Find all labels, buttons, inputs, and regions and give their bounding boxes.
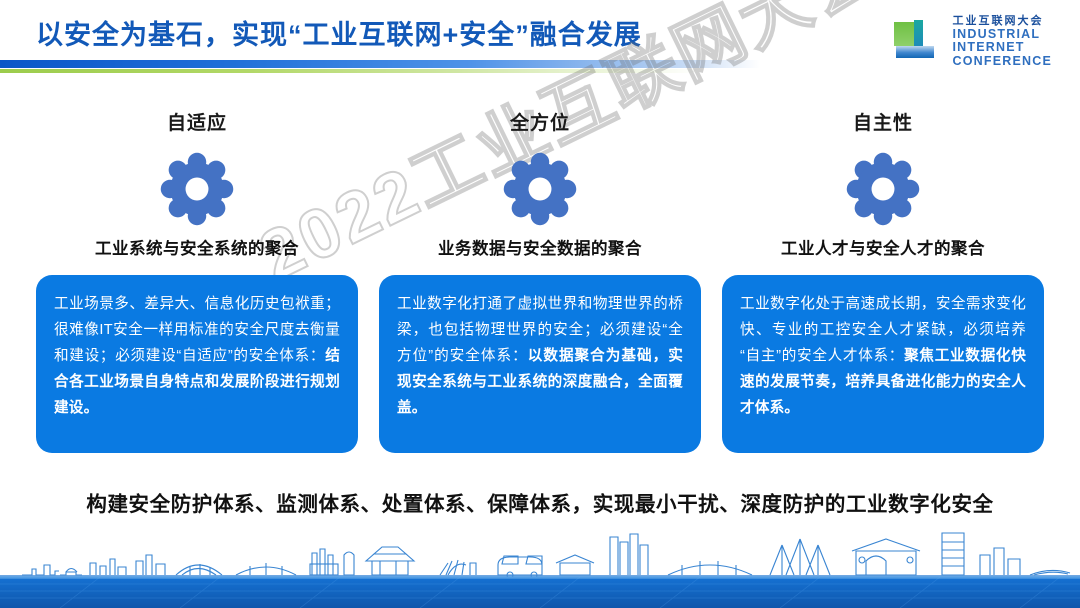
column-comprehensive: 全方位 业务数据与安全数 bbox=[379, 112, 701, 453]
divider-blue-bar bbox=[0, 60, 760, 68]
column-kicker: 全方位 bbox=[510, 112, 570, 136]
info-card: 工业数字化处于高速成长期，安全需求变化快、专业的工控安全人才紧缺，必须培养“自主… bbox=[722, 275, 1044, 453]
logo-text-block: 工业互联网大会 INDUSTRIAL INTERNET CONFERENCE bbox=[952, 16, 1052, 68]
column-subtitle: 业务数据与安全数据的聚合 bbox=[438, 238, 642, 260]
column-kicker: 自适应 bbox=[167, 112, 227, 136]
slide-canvas: 以安全为基石，实现“工业互联网+安全”融合发展 bbox=[0, 0, 1080, 608]
skyline-illustration bbox=[0, 530, 1080, 608]
page-title: 以安全为基石，实现“工业互联网+安全”融合发展 bbox=[36, 18, 642, 52]
column-adaptive: 自适应 工业系统与安全系 bbox=[36, 112, 358, 453]
gear-icon bbox=[503, 152, 577, 226]
conference-logo: 工业互联网大会 INDUSTRIAL INTERNET CONFERENCE bbox=[890, 16, 1052, 68]
logo-text-line1: INDUSTRIAL bbox=[952, 28, 1052, 42]
logo-text-line2: INTERNET bbox=[952, 41, 1052, 55]
column-subtitle: 工业人才与安全人才的聚合 bbox=[781, 238, 985, 260]
column-kicker: 自主性 bbox=[853, 112, 913, 136]
info-card: 工业数字化打通了虚拟世界和物理世界的桥梁，也包括物理世界的安全；必须建设“全方位… bbox=[379, 275, 701, 453]
card-body-normal: 工业场景多、差异大、信息化历史包袱重；很难像IT安全一样用标准的安全尺度去衡量和… bbox=[54, 296, 340, 364]
summary-statement: 构建安全防护体系、监测体系、处置体系、保障体系，实现最小干扰、深度防护的工业数字… bbox=[0, 487, 1080, 517]
gear-icon bbox=[846, 152, 920, 226]
columns-container: 自适应 工业系统与安全系 bbox=[0, 112, 1080, 453]
footer-skyline bbox=[0, 530, 1080, 608]
column-autonomy: 自主性 工业人才与安全人 bbox=[722, 112, 1044, 453]
gear-icon bbox=[160, 152, 234, 226]
info-card: 工业场景多、差异大、信息化历史包袱重；很难像IT安全一样用标准的安全尺度去衡量和… bbox=[36, 275, 358, 453]
logo-mark-icon bbox=[890, 16, 942, 68]
column-subtitle: 工业系统与安全系统的聚合 bbox=[95, 238, 299, 260]
slide-header: 以安全为基石，实现“工业互联网+安全”融合发展 bbox=[0, 0, 1080, 84]
divider-green-bar bbox=[0, 69, 700, 73]
logo-text-line3: CONFERENCE bbox=[952, 55, 1052, 69]
